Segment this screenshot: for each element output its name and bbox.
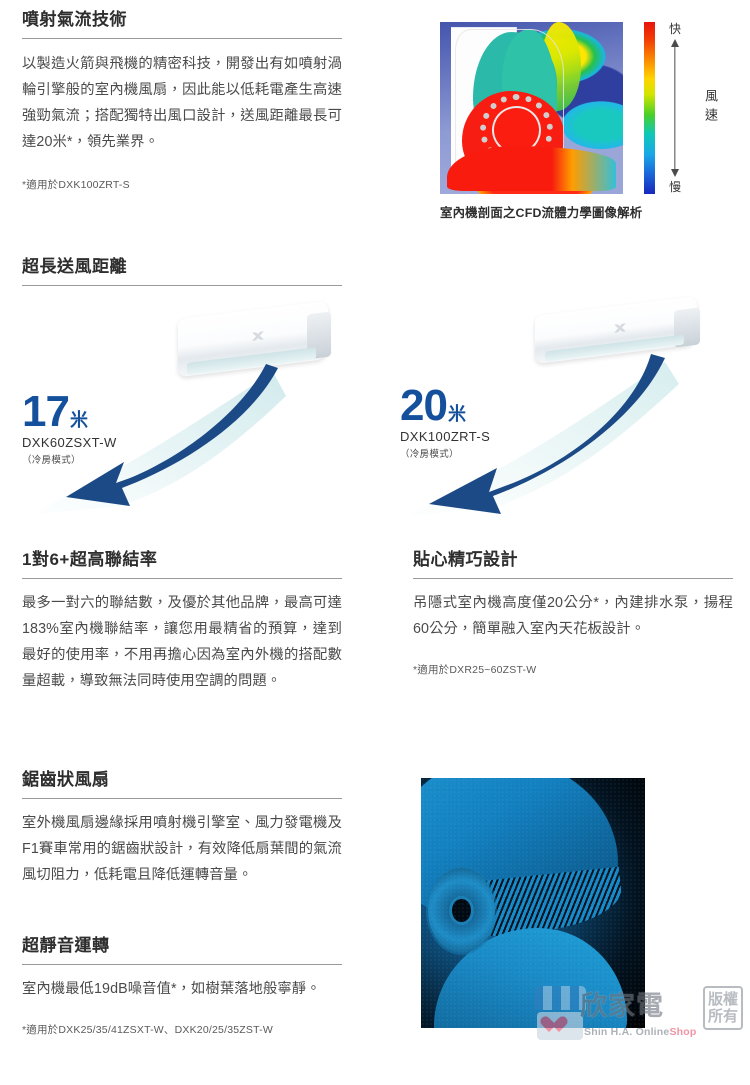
section-body-fan: 室外機風扇邊緣採用噴射機引擎室、風力發電機及F1賽車常用的鋸齒狀設計，有效降低扇… xyxy=(22,810,342,888)
legend-title-wrap: 風速 xyxy=(701,22,719,194)
section-body-jet: 以製造火箭與飛機的精密科技，開發出有如噴射渦輪引擎般的室內機風扇，因此能以低耗電… xyxy=(22,51,342,155)
legend-axis: 快 慢 xyxy=(655,22,695,194)
section-slim-design: 貼心精巧設計 吊隱式室內機高度僅20公分*，內建排水泵，揚程60公分，簡單融入室… xyxy=(413,548,733,678)
airflow-panel-17m: 17米 DXK60ZSXT-W （冷房模式） xyxy=(0,300,375,530)
heading-divider xyxy=(22,964,342,965)
distance-value: 20 xyxy=(400,386,447,426)
section-airflow-distance-heading: 超長送風距離 xyxy=(22,255,342,286)
distance-label-20m: 20米 DXK100ZRT-S （冷房模式） xyxy=(400,386,490,460)
heading-divider xyxy=(22,578,342,579)
distance-value-wrap: 17米 xyxy=(22,392,117,432)
legend-label-slow: 慢 xyxy=(669,180,681,194)
legend-double-arrow-icon xyxy=(668,39,682,177)
section-body-slim: 吊隱式室內機高度僅20公分*，內建排水泵，揚程60公分，簡單融入室內天花板設計。 xyxy=(413,590,733,642)
section-footnote-jet: *適用於DXK100ZRT-S xyxy=(22,177,342,193)
heart-icon xyxy=(549,1017,567,1033)
section-multi-connection: 1對6+超高聯結率 最多一對六的聯結數，及優於其他品牌，最高可達183%室內機聯… xyxy=(22,548,342,694)
distance-value: 17 xyxy=(22,392,69,432)
indoor-unit-image xyxy=(178,310,328,368)
indoor-unit-image xyxy=(535,306,697,354)
legend-title-windspeed: 風速 xyxy=(701,89,719,127)
distance-label-17m: 17米 DXK60ZSXT-W （冷房模式） xyxy=(22,392,117,466)
cfd-legend: 快 慢 風速 xyxy=(644,22,719,194)
cfd-caption: 室內機剖面之CFD流體力學圖像解析 xyxy=(440,203,740,221)
section-body-quiet: 室內機最低19dB噪音值*，如樹葉落地般寧靜。 xyxy=(22,976,342,1002)
heading-divider xyxy=(22,38,342,39)
cfd-simulation-image xyxy=(440,22,623,194)
section-footnote-slim: *適用於DXR25~60ZST-W xyxy=(413,662,733,678)
section-heading-quiet: 超靜音運轉 xyxy=(22,934,342,958)
cfd-figure: 快 慢 風速 室內機剖面之CFD流體力學圖像解析 xyxy=(440,22,740,221)
legend-color-bar xyxy=(644,22,655,194)
product-feature-page: 噴射氣流技術 以製造火箭與飛機的精密科技，開發出有如噴射渦輪引擎般的室內機風扇，… xyxy=(0,0,750,1085)
watermark-brand-en-a: Shin H.A. Online xyxy=(584,1026,669,1038)
distance-model: DXK60ZSXT-W xyxy=(22,435,117,450)
distance-unit: 米 xyxy=(70,410,88,430)
section-heading-fan: 鋸齒狀風扇 xyxy=(22,768,342,792)
copyright-badge: 版權 所有 xyxy=(703,986,743,1030)
section-quiet-operation: 超靜音運轉 室內機最低19dB噪音值*，如樹葉落地般寧靜。 *適用於DXK25/… xyxy=(22,934,342,1038)
copyright-badge-line1: 版權 xyxy=(708,991,738,1008)
legend-label-fast: 快 xyxy=(669,22,681,36)
watermark-brand-en: Shin H.A. OnlineShop xyxy=(584,1026,697,1038)
distance-model: DXK100ZRT-S xyxy=(400,429,490,444)
heading-divider xyxy=(22,285,342,286)
airflow-distance-panels: 17米 DXK60ZSXT-W （冷房模式） xyxy=(0,300,750,530)
section-heading-jet: 噴射氣流技術 xyxy=(22,8,342,32)
section-heading-multi: 1對6+超高聯結率 xyxy=(22,548,342,572)
section-body-multi: 最多一對六的聯結數，及優於其他品牌，最高可達183%室內機聯結率，讓您用最精省的… xyxy=(22,590,342,694)
awning-icon xyxy=(534,986,586,1010)
distance-mode: （冷房模式） xyxy=(400,446,490,460)
copyright-badge-line2: 所有 xyxy=(708,1008,738,1025)
section-heading-distance: 超長送風距離 xyxy=(22,255,342,279)
section-jet-airflow: 噴射氣流技術 以製造火箭與飛機的精密科技，開發出有如噴射渦輪引擎般的室內機風扇，… xyxy=(22,8,342,193)
airflow-panel-20m: 20米 DXK100ZRT-S （冷房模式） xyxy=(375,300,750,530)
heading-divider xyxy=(22,798,342,799)
distance-value-wrap: 20米 xyxy=(400,386,490,426)
cfd-outlet-jet xyxy=(447,146,615,191)
section-heading-slim: 貼心精巧設計 xyxy=(413,548,733,572)
watermark: 欣家電 Shin H.A. OnlineShop 版權 所有 xyxy=(528,982,743,1054)
distance-mode: （冷房模式） xyxy=(22,452,117,466)
section-serrated-fan: 鋸齒狀風扇 室外機風扇邊緣採用噴射機引擎室、風力發電機及F1賽車常用的鋸齒狀設計… xyxy=(22,768,342,888)
watermark-brand-en-b: Shop xyxy=(669,1026,696,1038)
heading-divider xyxy=(413,578,733,579)
section-footnote-quiet: *適用於DXK25/35/41ZSXT-W、DXK20/25/35ZST-W xyxy=(22,1022,342,1038)
shop-icon xyxy=(534,986,586,1040)
watermark-brand-cn: 欣家電 xyxy=(580,984,664,1023)
distance-unit: 米 xyxy=(448,404,466,424)
